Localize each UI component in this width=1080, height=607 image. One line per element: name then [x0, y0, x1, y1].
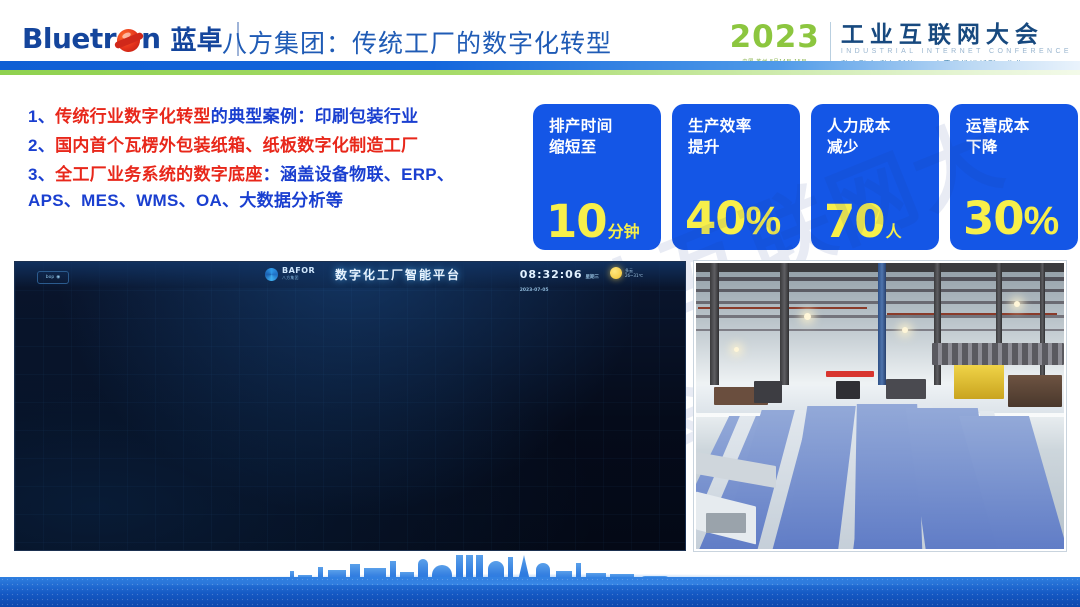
- dashboard-title: 数字化工厂智能平台: [335, 266, 461, 283]
- conference-year: 2023: [730, 22, 820, 53]
- bullet-1-red: 传统行业数字化转型: [55, 107, 211, 126]
- bullet-3-blue: ：涵盖设备物联、ERP、: [263, 165, 455, 184]
- dashboard-clock: 08:32:06星期三 2023-07-05: [520, 268, 599, 294]
- dashboard-corner-logo: bop ◉: [37, 271, 69, 284]
- header-rule-blue: [0, 61, 1080, 70]
- sun-icon: [610, 267, 622, 279]
- dashboard-logo-icon: [265, 268, 278, 281]
- header-rule-green: [0, 70, 1080, 75]
- dashboard-logo-subname: 八方集团: [282, 275, 315, 281]
- footer-dot-pattern: [0, 577, 1080, 607]
- conference-title-cn: 工业互联网大会: [841, 22, 1072, 46]
- page-title: 八方集团：传统工厂的数字化转型: [222, 24, 612, 60]
- kpi-4-value-group: 30 %: [963, 196, 1057, 244]
- kpi-3-unit: 人: [886, 218, 902, 242]
- factory-3d-map[interactable]: 纸箱车间 纸板车间 成品仓库 印制成品 半成品仓: [167, 550, 557, 551]
- kpi-card-labor-cost: 人力成本 减少 70 人: [811, 104, 939, 250]
- kpi-3-label: 人力成本 减少: [827, 117, 891, 159]
- kpi-1-value-group: 10 分钟: [546, 199, 640, 244]
- bullet-list: 1、传统行业数字化转型的典型案例：印刷包装行业 2、国内首个瓦楞外包装纸箱、纸板…: [28, 108, 528, 221]
- footer-decoration: [0, 552, 1080, 607]
- bullet-3-number: 3、: [28, 165, 55, 184]
- conference-year-block: 2023 中国·苏州 8月14日-15日: [730, 22, 830, 65]
- kpi-3-value-group: 70 人: [824, 199, 902, 244]
- dashboard-weather-text: 多云 26~31℃: [625, 268, 643, 278]
- bullet-3-red: 全工厂业务系统的数字底座: [55, 165, 263, 184]
- bullet-1-number: 1、: [28, 107, 55, 126]
- bullet-item-1: 1、传统行业数字化转型的典型案例：印刷包装行业: [28, 108, 528, 125]
- dashboard-screenshot: bop ◉ BAFOR 八方集团 数字化工厂智能平台 08:32:06星期三 2…: [14, 261, 686, 551]
- dashboard-grid-bg: [15, 262, 685, 550]
- kpi-4-label: 运营成本 下降: [966, 117, 1030, 159]
- dashboard-brand-logo: BAFOR 八方集团: [265, 267, 315, 281]
- brand-wordmark: Bluetr n: [22, 22, 161, 55]
- dashboard-weather: 多云 26~31℃: [610, 267, 643, 279]
- kpi-card-group: 排产时间 缩短至 10 分钟 生产效率 提升 40 % 人力成本 减少 70 人…: [533, 104, 1078, 250]
- dashboard-corner-logo-mark: ◉: [56, 275, 60, 280]
- kpi-card-efficiency: 生产效率 提升 40 %: [672, 104, 800, 250]
- dashboard-logo-text-block: BAFOR 八方集团: [282, 267, 315, 281]
- kpi-3-number: 70: [824, 199, 885, 244]
- kpi-1-unit: 分钟: [608, 218, 640, 242]
- kpi-2-value-group: 40 %: [685, 196, 779, 244]
- kpi-card-operating-cost: 运营成本 下降 30 %: [950, 104, 1078, 250]
- kpi-2-label: 生产效率 提升: [688, 117, 752, 159]
- brand-swoosh-icon: [117, 29, 140, 52]
- dashboard-corner-logo-text: bop: [46, 275, 54, 280]
- dashboard-clock-time: 08:32:06: [520, 268, 583, 281]
- bluetron-logo: Bluetr n 蓝卓: [22, 20, 253, 57]
- bullet-item-3: 3、全工厂业务系统的数字底座：涵盖设备物联、ERP、: [28, 166, 528, 183]
- dashboard-logo-name: BAFOR: [282, 267, 315, 275]
- bullet-1-blue: 的典型案例：印刷包装行业: [211, 107, 419, 126]
- kpi-card-schedule-time: 排产时间 缩短至 10 分钟: [533, 104, 661, 250]
- factory-photo: [694, 261, 1066, 551]
- bullet-2-number: 2、: [28, 136, 55, 155]
- bullet-2-red: 国内首个瓦楞外包装纸箱、纸板数字化制造工厂: [55, 136, 418, 155]
- kpi-1-number: 10: [546, 199, 607, 244]
- conference-title-en: INDUSTRIAL INTERNET CONFERENCE: [841, 48, 1072, 55]
- kpi-1-label: 排产时间 缩短至: [549, 117, 613, 159]
- brand-word-part1: Bluetr: [22, 22, 116, 55]
- kpi-4-unit: %: [1024, 199, 1058, 244]
- kpi-2-unit: %: [746, 199, 780, 244]
- kpi-4-number: 30: [963, 196, 1024, 241]
- slide: Bluetr n 蓝卓 八方集团：传统工厂的数字化转型 2023 中国·苏州 8…: [0, 0, 1080, 607]
- bullet-3-continuation: APS、MES、WMS、OA、大数据分析等: [28, 191, 343, 210]
- slide-header: Bluetr n 蓝卓 八方集团：传统工厂的数字化转型 2023 中国·苏州 8…: [0, 0, 1080, 80]
- brand-chinese-name: 蓝卓: [171, 20, 223, 57]
- kpi-2-number: 40: [685, 196, 746, 241]
- bullet-item-2: 2、国内首个瓦楞外包装纸箱、纸板数字化制造工厂: [28, 137, 528, 154]
- bullet-item-3-cont: APS、MES、WMS、OA、大数据分析等: [28, 192, 528, 209]
- brand-word-part2: n: [141, 22, 160, 55]
